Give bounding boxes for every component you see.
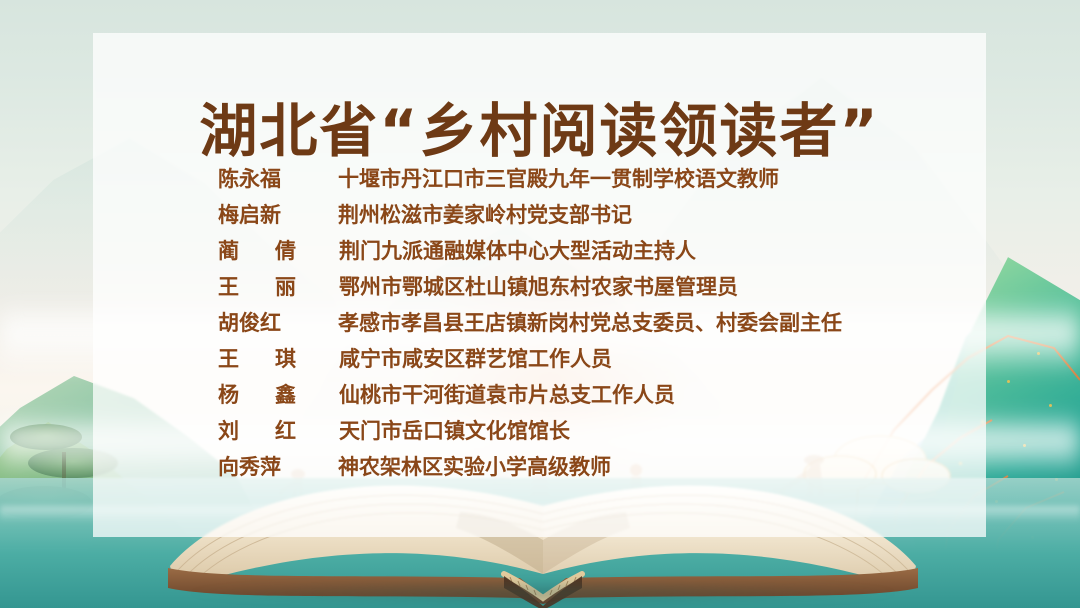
honoree-description: 孝感市孝昌县王店镇新岗村党总支委员、村委会副主任 — [296, 307, 958, 337]
list-item: 向秀萍 神农架林区实验小学高级教师 — [218, 451, 958, 487]
name-char: 丽 — [275, 271, 296, 301]
name-char: 琪 — [275, 343, 296, 373]
name-char: 蔺 — [218, 235, 239, 265]
gold-speck — [1049, 404, 1052, 407]
name-char: 王 — [218, 271, 239, 301]
name-char: 刘 — [218, 415, 239, 445]
honoree-name: 陈永福 — [218, 163, 296, 193]
list-item: 王 丽 鄂州市鄂城区杜山镇旭东村农家书屋管理员 — [218, 271, 958, 307]
honoree-description: 咸宁市咸安区群艺馆工作人员 — [297, 343, 958, 373]
list-item: 梅启新 荆州松滋市姜家岭村党支部书记 — [218, 199, 958, 235]
honoree-name: 蔺 倩 — [218, 235, 297, 265]
honoree-name: 杨 鑫 — [218, 379, 297, 409]
list-item: 蔺 倩 荆门九派通融媒体中心大型活动主持人 — [218, 235, 958, 271]
name-char: 红 — [275, 415, 296, 445]
name-char: 倩 — [275, 235, 296, 265]
honoree-description: 天门市岳口镇文化馆馆长 — [297, 415, 958, 445]
book-shadow — [190, 580, 896, 606]
name-char: 杨 — [218, 379, 239, 409]
list-item: 胡俊红 孝感市孝昌县王店镇新岗村党总支委员、村委会副主任 — [218, 307, 958, 343]
poster-canvas: 湖北省“乡村阅读领读者” 陈永福 十堰市丹江口市三官殿九年一贯制学校语文教师 梅… — [0, 0, 1080, 608]
honoree-description: 荆门九派通融媒体中心大型活动主持人 — [297, 235, 958, 265]
honoree-name: 胡俊红 — [218, 307, 296, 337]
honoree-name: 王 丽 — [218, 271, 297, 301]
list-item: 王 琪 咸宁市咸安区群艺馆工作人员 — [218, 343, 958, 379]
honoree-name: 梅启新 — [218, 199, 296, 229]
honoree-name: 向秀萍 — [218, 451, 296, 481]
honoree-description: 仙桃市干河街道袁市片总支工作人员 — [297, 379, 958, 409]
name-char: 鑫 — [275, 379, 296, 409]
page-title: 湖北省“乡村阅读领读者” — [93, 99, 986, 164]
honoree-name: 刘 红 — [218, 415, 297, 445]
honoree-description: 荆州松滋市姜家岭村党支部书记 — [296, 199, 958, 229]
honoree-description: 神农架林区实验小学高级教师 — [296, 451, 958, 481]
list-item: 杨 鑫 仙桃市干河街道袁市片总支工作人员 — [218, 379, 958, 415]
list-item: 刘 红 天门市岳口镇文化馆馆长 — [218, 415, 958, 451]
list-item: 陈永福 十堰市丹江口市三官殿九年一贯制学校语文教师 — [218, 163, 958, 199]
honoree-description: 鄂州市鄂城区杜山镇旭东村农家书屋管理员 — [297, 271, 958, 301]
honoree-description: 十堰市丹江口市三官殿九年一贯制学校语文教师 — [296, 163, 958, 193]
honoree-list: 陈永福 十堰市丹江口市三官殿九年一贯制学校语文教师 梅启新 荆州松滋市姜家岭村党… — [218, 163, 958, 487]
gold-speck — [1007, 380, 1010, 383]
honoree-name: 王 琪 — [218, 343, 297, 373]
name-char: 王 — [218, 343, 239, 373]
